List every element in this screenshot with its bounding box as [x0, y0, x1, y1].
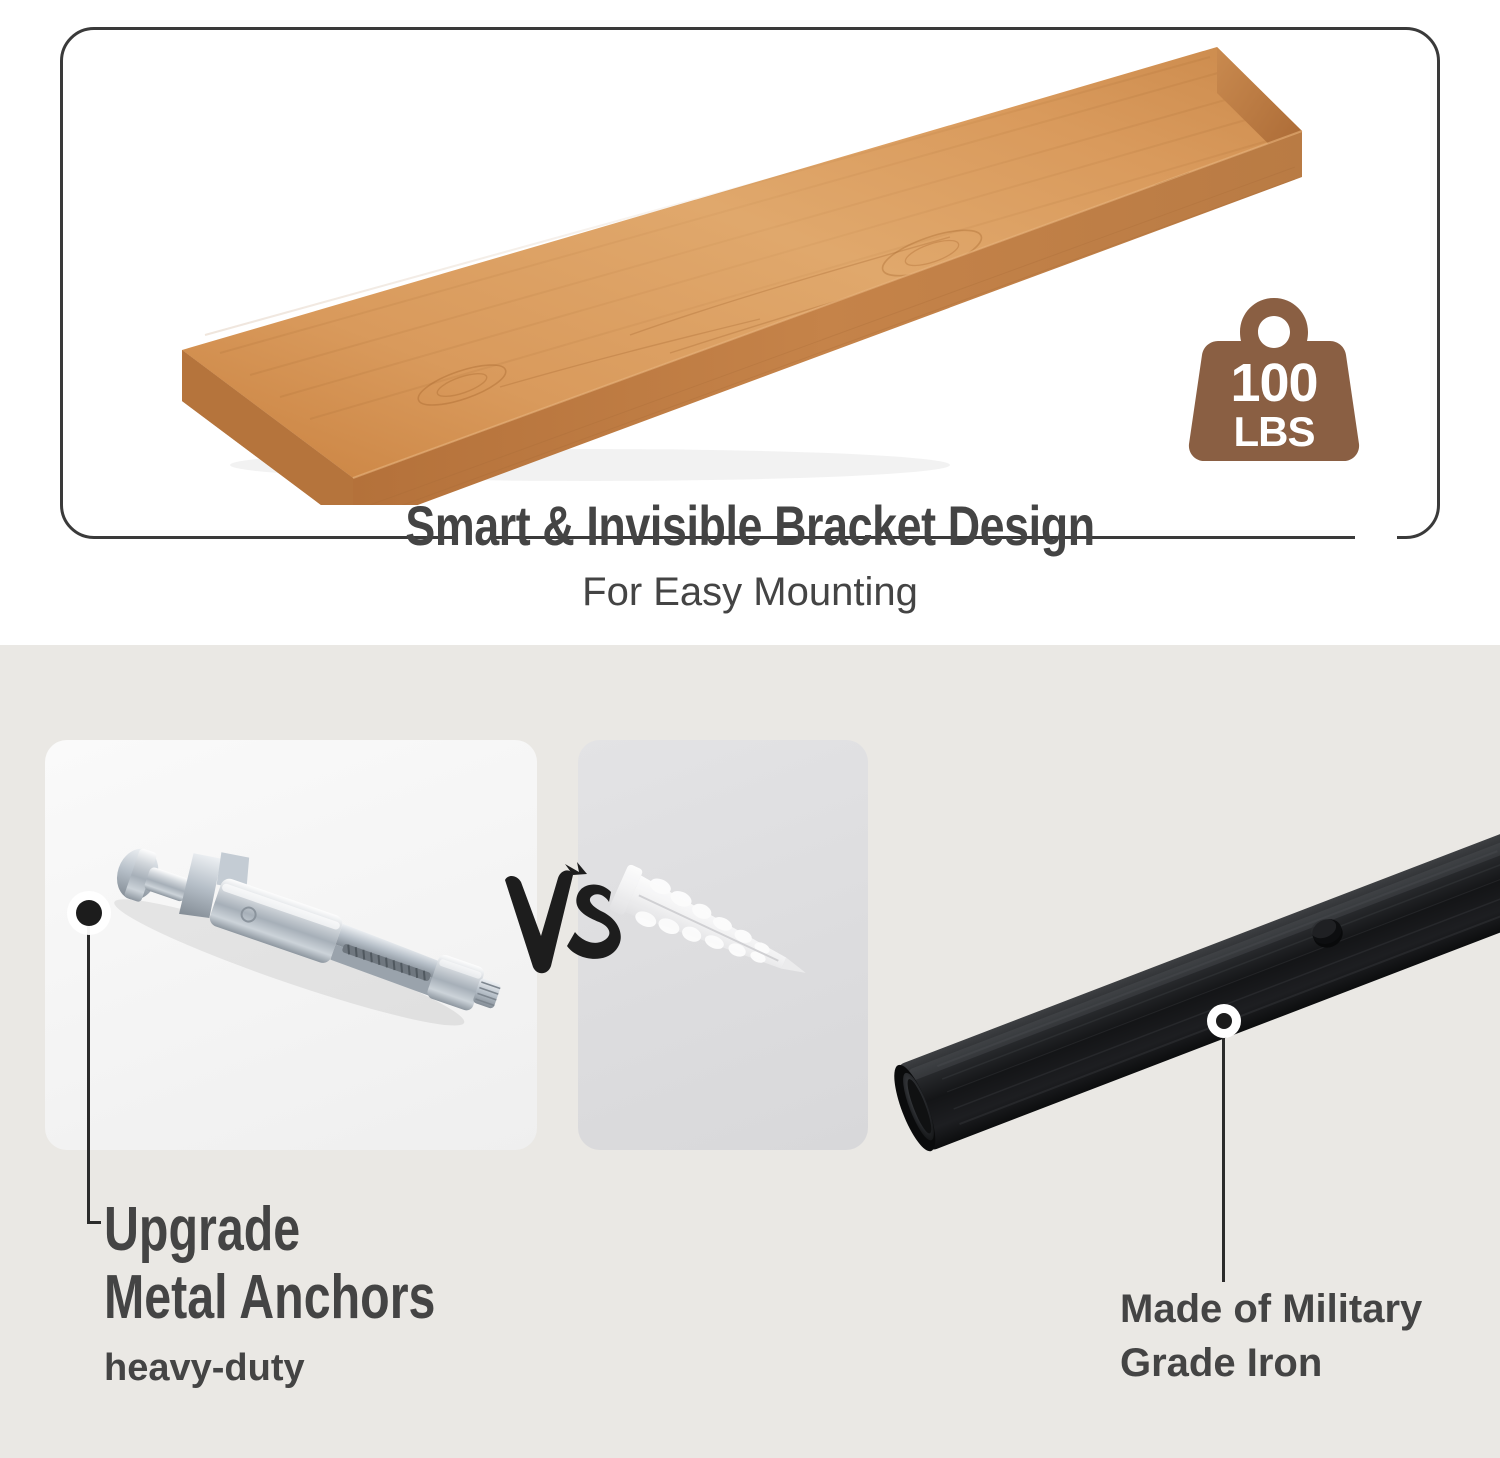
metal-anchor-leader-line — [87, 918, 90, 1224]
hero-subheadline: For Easy Mounting — [0, 568, 1500, 616]
metal-anchor-callout-dot — [76, 900, 102, 926]
iron-pipe-title-line1: Made of Military — [1120, 1282, 1500, 1336]
weight-badge: 100 LBS — [1186, 294, 1362, 466]
versus-icon — [495, 862, 625, 984]
hero-headline: Smart & Invisible Bracket Design — [150, 495, 1350, 557]
hero-section: 100 LBS Smart & Invisible Bracket Design… — [0, 0, 1500, 645]
weight-value: 100 — [1186, 356, 1362, 410]
weight-unit: LBS — [1186, 411, 1362, 453]
iron-pipe-leader-line — [1222, 1030, 1225, 1282]
metal-anchor-title-line1: Upgrade — [104, 1196, 572, 1264]
iron-pipe-illustration — [870, 700, 1500, 1300]
metal-anchor-card — [45, 740, 537, 1150]
infographic-page: 100 LBS Smart & Invisible Bracket Design… — [0, 0, 1500, 1458]
iron-pipe-callout-ring — [1207, 1004, 1241, 1038]
metal-anchor-text-block: Upgrade Metal Anchors heavy-duty — [104, 1196, 704, 1390]
frame-gap-right — [1355, 512, 1397, 552]
iron-pipe-title-line2: Grade Iron — [1120, 1336, 1500, 1390]
metal-anchor-title-line2: Metal Anchors — [104, 1264, 572, 1332]
metal-anchor-leader-elbow — [87, 1221, 101, 1224]
metal-anchor-subtitle: heavy-duty — [104, 1346, 704, 1390]
iron-pipe-text-block: Made of Military Grade Iron — [1120, 1282, 1500, 1390]
